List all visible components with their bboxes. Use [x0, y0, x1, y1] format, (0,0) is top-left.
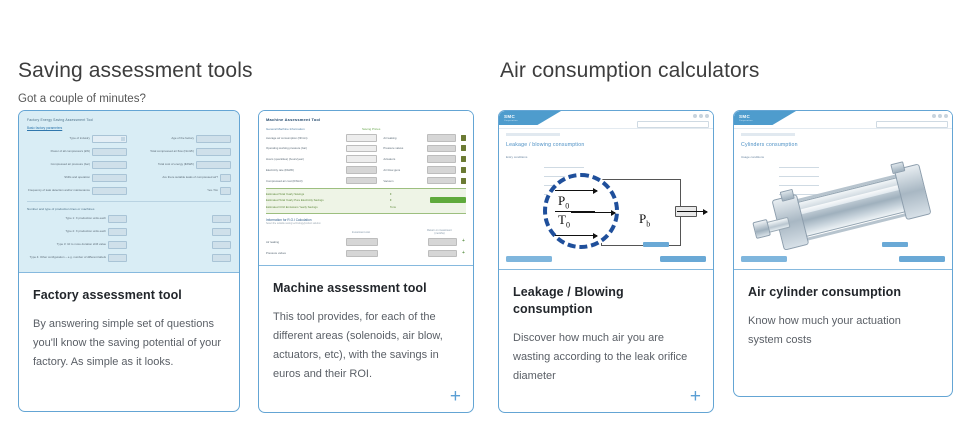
- card-thumbnail-factory[interactable]: Factory Energy Saving Assessment Tool Ba…: [19, 111, 239, 273]
- field-label: Pressure valves: [377, 146, 427, 150]
- factory-form-mock: Factory Energy Saving Assessment Tool Ba…: [19, 111, 239, 272]
- field-label: Air leaking: [377, 136, 427, 140]
- line-input-2[interactable]: [212, 228, 231, 236]
- roi-col1-heading: Investment cost: [346, 231, 376, 234]
- line-label: Type 1: X production units each: [27, 217, 106, 221]
- card-body: Factory assessment tool By answering sim…: [19, 273, 239, 372]
- field-label: Power of all compressors (kW): [27, 150, 90, 154]
- outlet-arrow: [677, 211, 707, 212]
- roi-col2-heading: Return on investment (months): [426, 229, 453, 235]
- field-label: Total cost of energy (€/kWh): [131, 163, 194, 167]
- roi-months-input[interactable]: [428, 238, 457, 246]
- field-label: Frequency of leak detection and/or maint…: [27, 189, 90, 193]
- form-subheading: Basic factory parameters: [27, 126, 231, 130]
- pressure-input[interactable]: [92, 161, 127, 169]
- line-input[interactable]: [108, 228, 127, 236]
- info-icon: [461, 156, 466, 162]
- field-label: Are there suitable leaks of compressed a…: [131, 176, 218, 180]
- plus-icon[interactable]: +: [462, 239, 465, 244]
- shift-input[interactable]: [92, 174, 127, 182]
- card-body: Machine assessment tool This tool provid…: [259, 266, 473, 384]
- aircost-input[interactable]: [346, 177, 378, 185]
- field-label: Total compressed air flow (Nm3/h): [131, 150, 194, 154]
- maintenance-input[interactable]: [92, 187, 127, 195]
- roi-row-label: Pressure valves: [266, 251, 346, 255]
- smc-page-mock: SMC Corporation Cylinders consumption Us…: [734, 111, 952, 269]
- line-input[interactable]: [108, 254, 127, 262]
- label-pb: Pb: [639, 211, 650, 229]
- line-input-2[interactable]: [212, 215, 231, 223]
- smc-logo: SMC Corporation: [734, 111, 796, 125]
- line-input-2[interactable]: [212, 241, 231, 249]
- info-icon: [461, 145, 466, 151]
- save-print-button[interactable]: [430, 197, 466, 203]
- age-input[interactable]: [196, 135, 231, 143]
- summary-value: €: [390, 198, 392, 202]
- section-title-air: Air consumption calculators: [500, 58, 950, 84]
- brand-tagline: Corporation: [739, 120, 753, 122]
- roi-invest-input[interactable]: [346, 238, 378, 246]
- field-label: Average air consumption (Nl/min): [266, 136, 346, 140]
- smc-page-mock: SMC Corporation Leakage / blowing consum…: [499, 111, 713, 269]
- line-label: Type 2: X production units each: [27, 230, 106, 234]
- card-thumbnail-machine[interactable]: Machine Assessment Tool General Machine …: [259, 111, 473, 266]
- card-description: Discover how much air you are wasting ac…: [513, 329, 699, 386]
- power-input[interactable]: [92, 148, 127, 156]
- window-dot[interactable]: [699, 114, 703, 118]
- card-body: Air cylinder consumption Know how much y…: [734, 270, 952, 350]
- card-machine-assessment-tool[interactable]: Machine Assessment Tool General Machine …: [258, 110, 474, 413]
- window-controls[interactable]: [693, 114, 709, 118]
- line-label: Type 4: Other configuration – e.g. numbe…: [27, 256, 106, 260]
- form-heading: Machine Assessment Tool: [266, 117, 466, 122]
- electricity-input[interactable]: [346, 166, 378, 174]
- brand-tagline: Corporation: [504, 120, 518, 122]
- card-title: Air cylinder consumption: [748, 284, 938, 301]
- saving-input[interactable]: [427, 145, 456, 153]
- yesno-input[interactable]: [220, 187, 231, 195]
- label-t0: T0: [558, 212, 570, 230]
- flow-arrow: [555, 190, 597, 191]
- brand-name: SMC: [504, 114, 515, 119]
- field-label: Compressed air pressure (bar): [27, 163, 90, 167]
- industry-select[interactable]: [92, 135, 127, 143]
- plus-icon[interactable]: +: [462, 251, 465, 256]
- roi-months-input[interactable]: [428, 250, 457, 258]
- field-label: Compressed air cost (€/Nm3): [266, 179, 346, 183]
- field-label: Age of the factory: [131, 137, 194, 141]
- summary-value: €: [390, 192, 392, 196]
- card-leakage-blowing-consumption[interactable]: SMC Corporation Leakage / blowing consum…: [498, 110, 714, 413]
- field-label: Operating working pressure (bar): [266, 146, 346, 150]
- line-input[interactable]: [108, 215, 127, 223]
- mock-page-title: Leakage / blowing consumption: [506, 142, 713, 148]
- field-label: Shifts and operation: [27, 176, 90, 180]
- field-label: Electricity rate (€/kWh): [266, 168, 346, 172]
- energy-cost-input[interactable]: [196, 161, 231, 169]
- smc-logo: SMC Corporation: [499, 111, 561, 125]
- divider: [27, 201, 231, 202]
- form-section2-heading: Number and type of production lines or m…: [27, 207, 231, 211]
- form-heading: Factory Energy Saving Assessment Tool: [27, 118, 231, 122]
- line-input[interactable]: [108, 241, 127, 249]
- field-label: Actuators: [377, 157, 427, 161]
- info-icon: [461, 135, 466, 141]
- window-dot[interactable]: [693, 114, 697, 118]
- window-controls[interactable]: [932, 114, 948, 118]
- window-dot[interactable]: [938, 114, 942, 118]
- pressure-input[interactable]: [346, 145, 378, 153]
- field-label: Yes / No: [131, 189, 218, 193]
- line-label: Type 3: 10 to more duration shift value: [27, 243, 106, 247]
- breadcrumb: [506, 133, 560, 136]
- roi-row-label: Air leaking: [266, 240, 346, 244]
- flow-input[interactable]: [196, 148, 231, 156]
- card-thumbnail-leakage[interactable]: SMC Corporation Leakage / blowing consum…: [499, 111, 713, 270]
- card-title: Factory assessment tool: [33, 287, 225, 304]
- hours-input[interactable]: [346, 155, 378, 163]
- line-input-2[interactable]: [212, 254, 231, 262]
- saving-input[interactable]: [427, 155, 456, 163]
- page-title: Saving assessment tools: [18, 58, 478, 84]
- card-description: This tool provides, for each of the diff…: [273, 308, 459, 384]
- card-description: By answering simple set of questions you…: [33, 315, 225, 372]
- flow-arrow: [555, 235, 597, 236]
- mock-section-label: Entry conditions: [506, 155, 713, 159]
- consumption-input[interactable]: [346, 134, 378, 142]
- field-label: Air blow guns: [377, 168, 427, 172]
- card-thumbnail-cylinder[interactable]: SMC Corporation Cylinders consumption Us…: [734, 111, 952, 270]
- card-factory-assessment-tool[interactable]: Factory Energy Saving Assessment Tool Ba…: [18, 110, 240, 412]
- card-description: Know how much your actuation system cost…: [748, 312, 938, 350]
- summary-value: Tons: [390, 205, 396, 209]
- field-label: Vacuum: [377, 179, 427, 183]
- search-input[interactable]: [637, 121, 709, 128]
- card-body: Leakage / Blowing consumption Discover h…: [499, 270, 713, 386]
- card-grid: Factory Energy Saving Assessment Tool Ba…: [0, 110, 960, 415]
- leakage-diagram: P0 T0 Pb: [543, 165, 695, 261]
- savings-summary: Estimated Total Yearly Savings€ Estimate…: [266, 188, 466, 214]
- next-step-button[interactable]: [899, 256, 945, 262]
- section-header-saving: Saving assessment tools Got a couple of …: [18, 58, 478, 106]
- field-label: Type of industry: [27, 137, 90, 141]
- roi-heading: Information for R.O.I Calculation: [266, 218, 466, 222]
- summary-label: Estimated CO2 Emissions Yearly Savings: [266, 205, 390, 209]
- page-header: SMC Corporation: [499, 111, 713, 129]
- window-dot[interactable]: [932, 114, 936, 118]
- mock-value-field[interactable]: [643, 242, 669, 247]
- roi-note: Select the suitable saving technology/pr…: [266, 223, 466, 225]
- card-title: Machine assessment tool: [273, 280, 459, 297]
- saving-input[interactable]: [427, 166, 456, 174]
- card-title: Leakage / Blowing consumption: [513, 284, 699, 318]
- expand-plus-icon[interactable]: +: [450, 387, 461, 406]
- card-air-cylinder-consumption[interactable]: SMC Corporation Cylinders consumption Us…: [733, 110, 953, 397]
- window-dot[interactable]: [705, 114, 709, 118]
- section-subtitle: Got a couple of minutes?: [18, 92, 478, 106]
- window-dot[interactable]: [944, 114, 948, 118]
- summary-label: Estimated Total Yearly Pure Electricity …: [266, 198, 390, 202]
- breadcrumb: [741, 133, 795, 136]
- roi-invest-input[interactable]: [346, 250, 378, 258]
- expand-plus-icon[interactable]: +: [690, 387, 701, 406]
- col1-heading: General Machine Information: [266, 127, 362, 131]
- leaks-yesno[interactable]: [220, 174, 231, 182]
- page-root: Saving assessment tools Got a couple of …: [0, 0, 960, 438]
- brand-name: SMC: [739, 114, 750, 119]
- col2-heading: Saving Prices: [362, 127, 380, 131]
- label-p0: P0: [558, 193, 569, 211]
- info-icon: [461, 178, 466, 184]
- field-label: Hours (quantities) (hours/year): [266, 157, 346, 161]
- machine-form-mock: Machine Assessment Tool General Machine …: [259, 111, 473, 265]
- section-header-air: Air consumption calculators: [500, 58, 950, 84]
- page-header: SMC Corporation: [734, 111, 952, 129]
- search-input[interactable]: [876, 121, 948, 128]
- summary-label: Estimated Total Yearly Savings: [266, 192, 390, 196]
- info-icon: [461, 167, 466, 173]
- saving-input[interactable]: [427, 134, 456, 142]
- saving-input[interactable]: [427, 177, 456, 185]
